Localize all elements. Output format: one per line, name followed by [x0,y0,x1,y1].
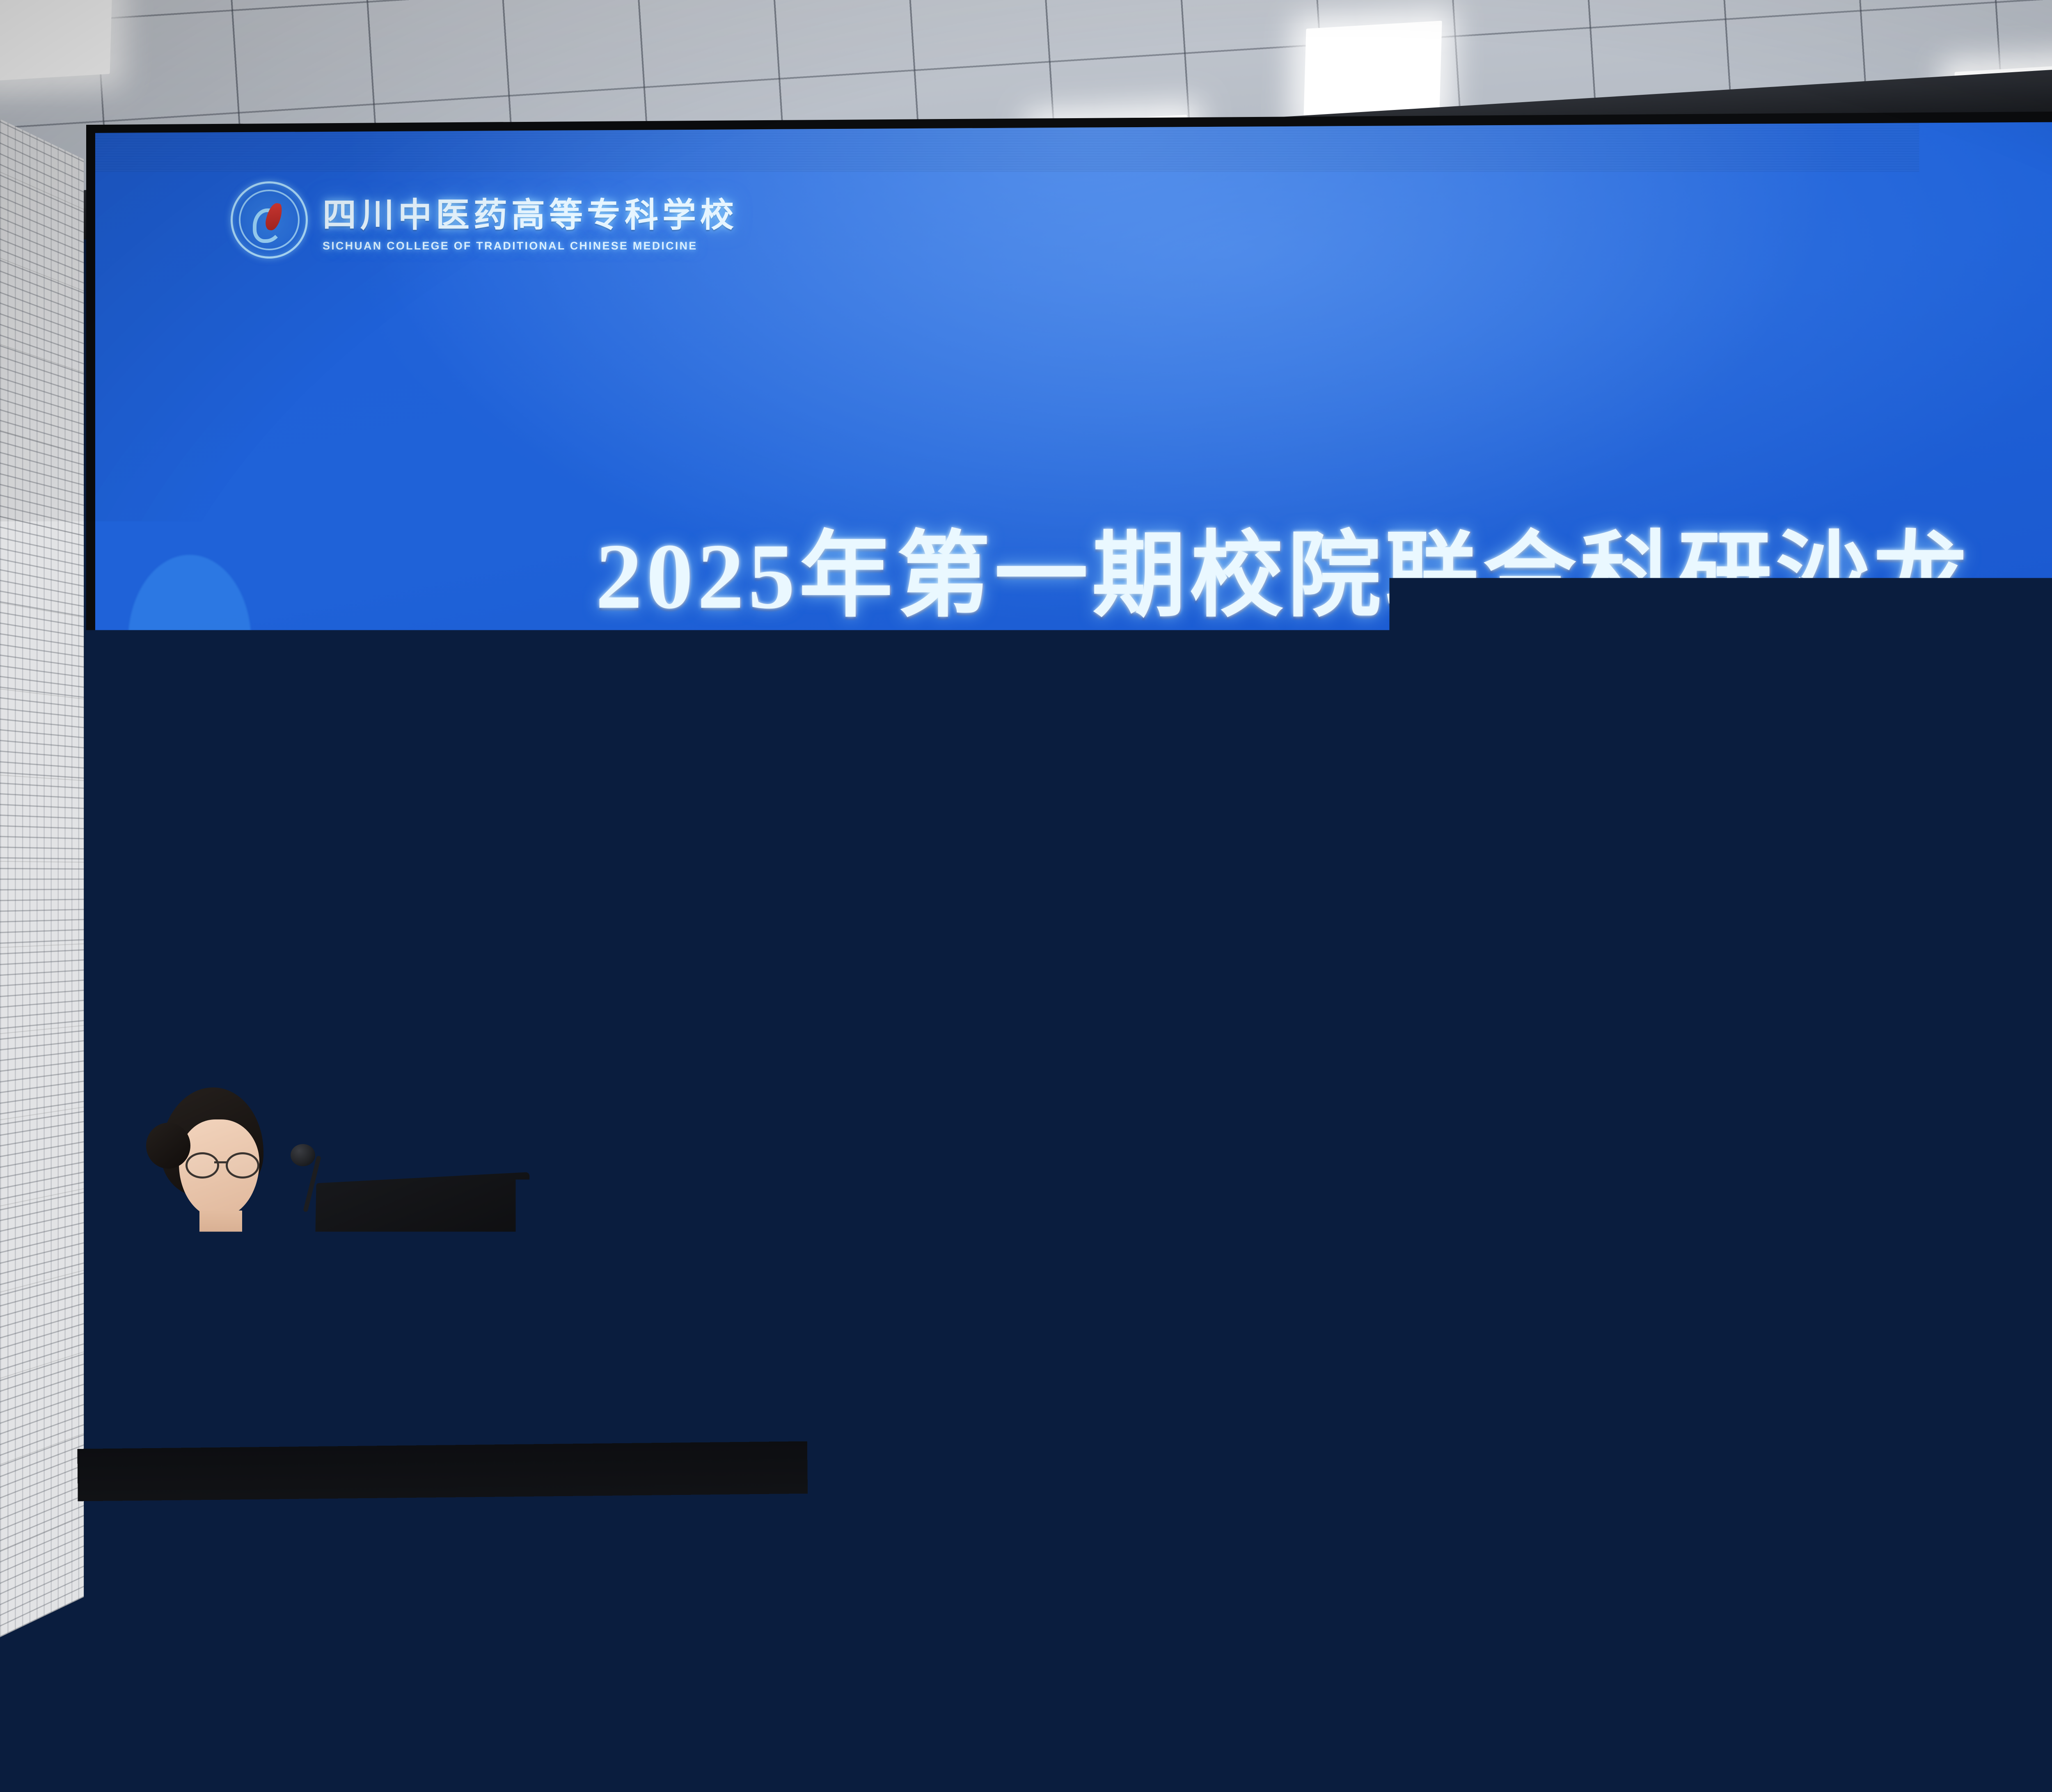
audience-person-head [1461,1498,1637,1711]
microphone-head-icon [291,1144,315,1166]
ceiling-light-panel [0,0,112,82]
seal-swirl-glyph [250,201,288,239]
audience-area [0,1313,2052,1792]
bottle-cap [1376,1668,1396,1684]
audience-person-head [4,1518,140,1682]
screen-brand-logo: 四川中医药高等专科学校 SICHUAN COLLEGE OF TRADITION… [231,181,738,259]
brand-name-cn: 四川中医药高等专科学校 [323,188,738,236]
audience-person-head [706,1641,878,1792]
water-bottle [1373,1682,1399,1760]
college-seal-icon [231,181,308,259]
event-organizer: 主办部门：科技处、医院服务与国际合作处 [95,1000,2052,1057]
brand-text: 四川中医药高等专科学校 SICHUAN COLLEGE OF TRADITION… [323,188,738,252]
conference-hall-photo: 四川中医药高等专科学校 SICHUAN COLLEGE OF TRADITION… [0,0,2052,1792]
brand-name-en: SICHUAN COLLEGE OF TRADITIONAL CHINESE M… [323,240,738,252]
speaker-glasses [186,1152,258,1174]
event-title: 2025年第一期校院联合科研沙龙 [95,499,2052,635]
audience-person-head [164,1498,337,1691]
audience-person-head [1921,1506,2052,1728]
glasses-lens-left [186,1152,219,1179]
ceiling-light-panel [1303,21,1442,121]
laptop-screen [314,1172,530,1302]
glasses-lens-right [226,1152,259,1179]
speaker-hair-bun [146,1123,190,1169]
glasses-bridge [214,1161,227,1163]
auditorium-seat [977,1625,1067,1748]
audience-person-head [361,1559,542,1789]
event-subtitle: 主题：肿瘤防治前沿技术 [95,666,2052,746]
